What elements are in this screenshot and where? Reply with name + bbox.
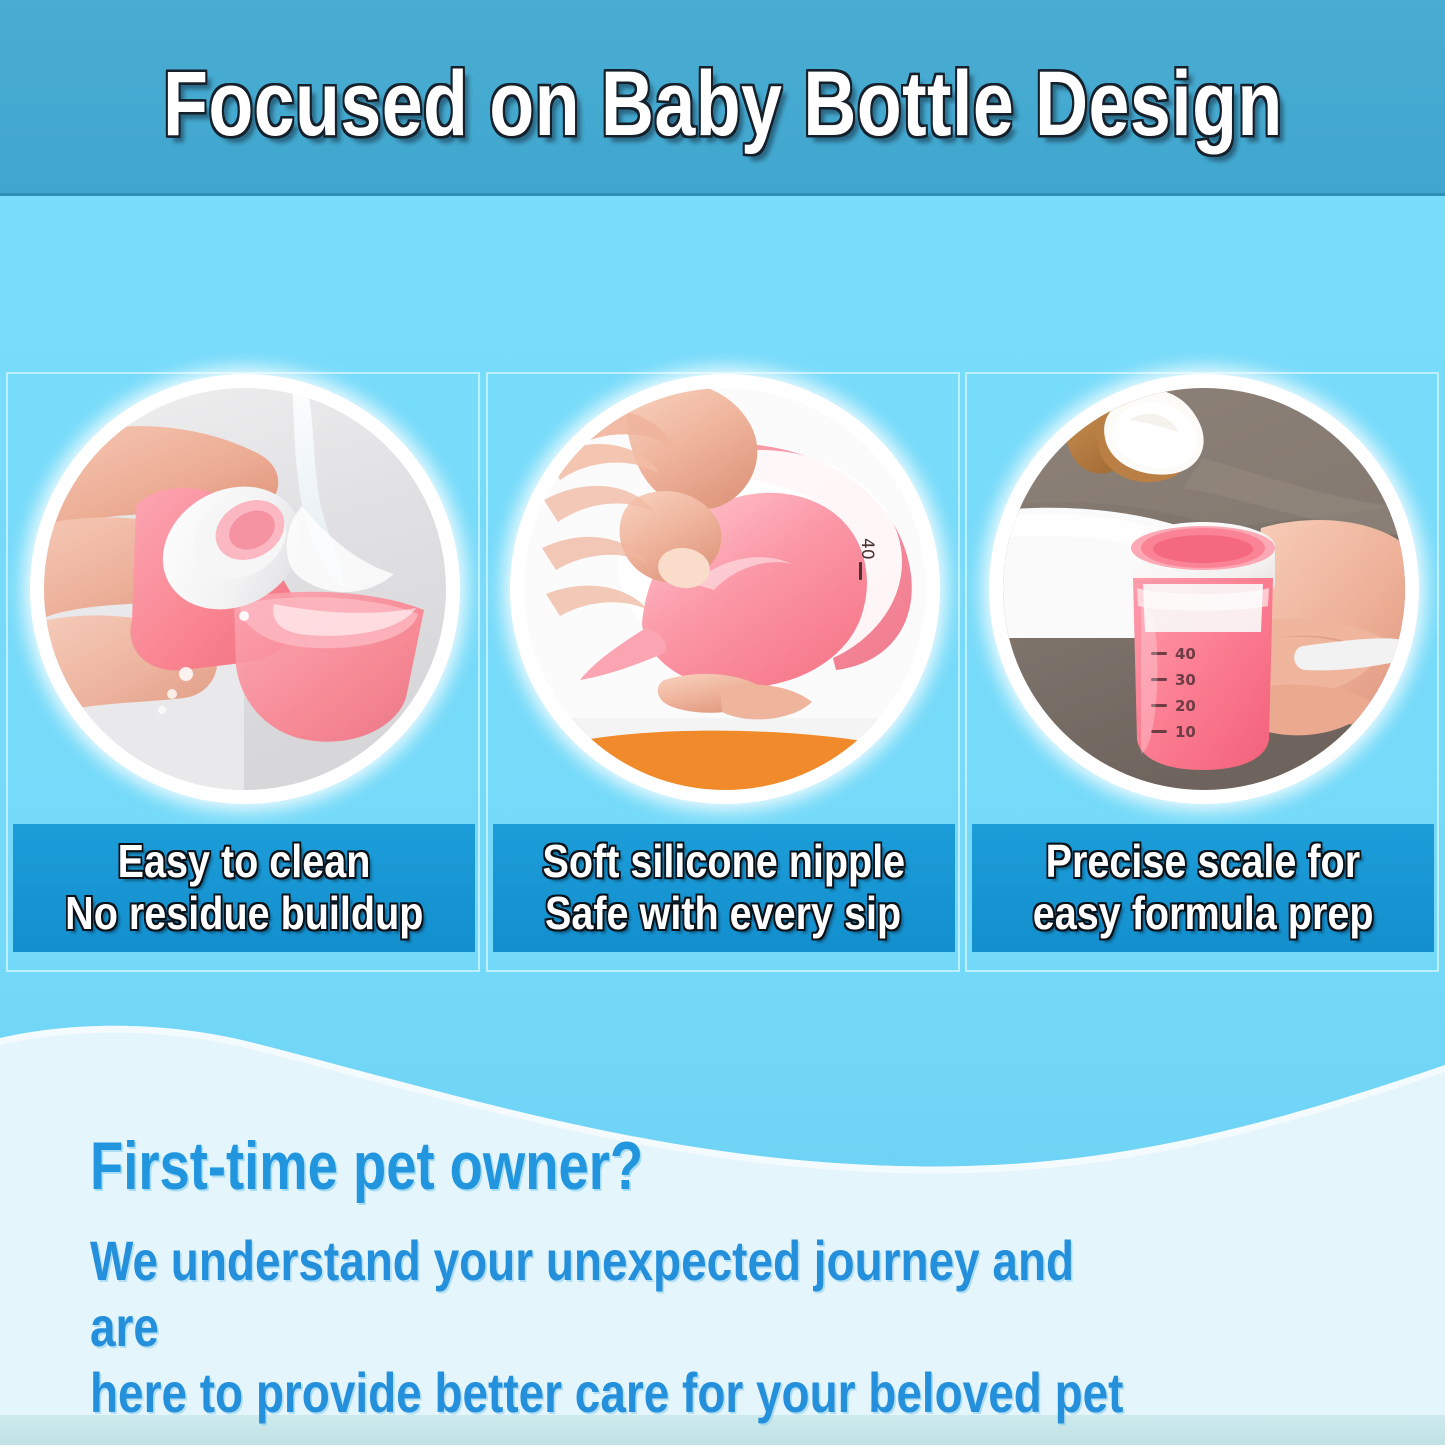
circle-photo-ring — [30, 374, 460, 804]
squeezing-silicone-nipple-photo: 40 — [524, 388, 926, 790]
caption-line-1: Precise scale for — [1046, 836, 1360, 888]
feature-panels-row: Easy to clean No residue buildup — [6, 372, 1439, 972]
rinsing-bottle-under-running-water-photo — [44, 388, 446, 790]
page-title: Focused on Baby Bottle Design — [163, 58, 1283, 150]
formula-scoop-over-bottle-photo: 40 30 20 10 — [1003, 388, 1405, 790]
photo-frame: 40 30 20 10 — [967, 374, 1441, 822]
infographic-canvas: Focused on Baby Bottle Design — [0, 0, 1445, 1445]
feature-panel-precise-scale[interactable]: 40 30 20 10 Prec — [965, 372, 1439, 972]
photo-frame — [8, 374, 482, 822]
caption-bar: Precise scale for easy formula prep — [972, 824, 1434, 952]
scale-label-30: 30 — [1175, 671, 1196, 689]
svg-text:40: 40 — [857, 538, 877, 560]
circle-photo-ring: 40 30 20 10 — [989, 374, 1419, 804]
scale-label-40: 40 — [1175, 645, 1196, 663]
bottom-subcopy-line-1: We understand your unexpected journey an… — [90, 1228, 1131, 1360]
caption-line-2: Safe with every sip — [545, 888, 901, 940]
circle-photo-ring: 40 — [510, 374, 940, 804]
caption-bar: Easy to clean No residue buildup — [13, 824, 475, 952]
feature-panel-soft-nipple[interactable]: 40 Soft silicone nipple Safe with every … — [486, 372, 960, 972]
caption-line-2: No residue buildup — [65, 888, 423, 940]
photo-frame: 40 — [488, 374, 962, 822]
caption-line-1: Soft silicone nipple — [542, 836, 905, 888]
circle-photo-clip — [44, 388, 446, 790]
circle-photo-clip: 40 — [524, 388, 926, 790]
wave-divider — [0, 960, 1445, 1260]
scale-label-20: 20 — [1175, 697, 1196, 715]
bottom-headline: First-time pet owner? — [90, 1132, 643, 1200]
header-banner: Focused on Baby Bottle Design — [0, 0, 1445, 196]
feature-panel-easy-to-clean[interactable]: Easy to clean No residue buildup — [6, 372, 480, 972]
circle-photo-clip: 40 30 20 10 — [1003, 388, 1405, 790]
caption-line-1: Easy to clean — [118, 836, 371, 888]
scale-label-10: 10 — [1175, 723, 1196, 741]
caption-line-2: easy formula prep — [1033, 888, 1374, 940]
bottom-subcopy: We understand your unexpected journey an… — [90, 1228, 1131, 1426]
caption-bar: Soft silicone nipple Safe with every sip — [493, 824, 955, 952]
bottom-subcopy-line-2: here to provide better care for your bel… — [90, 1360, 1131, 1426]
